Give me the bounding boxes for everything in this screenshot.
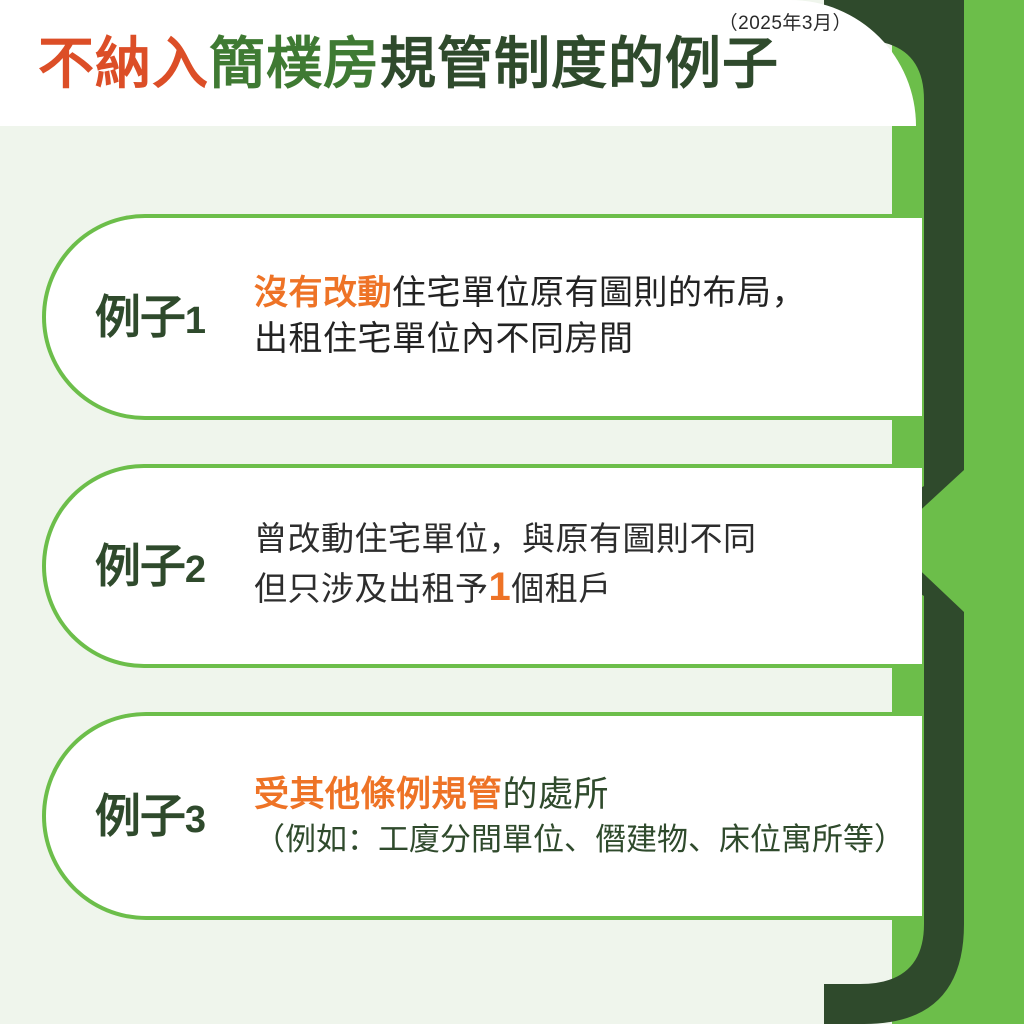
example-1-label: 例子1 <box>46 294 254 340</box>
example-2-label-text: 例子 <box>95 540 185 592</box>
date-label: （2025年3月） <box>719 8 852 35</box>
example-3-label: 例子3 <box>46 793 254 839</box>
example-3-line1-rest: 的處所 <box>503 775 610 814</box>
title-segment-green: 簡樸房 <box>209 32 380 95</box>
example-2-line-1: 曾改動住宅單位，與原有圖則不同 <box>254 517 886 561</box>
example-2-label-number: 2 <box>185 549 205 591</box>
example-1-body: 沒有改動住宅單位原有圖則的布局， 出租住宅單位內不同房間 <box>254 271 922 362</box>
example-3-label-number: 3 <box>185 799 205 841</box>
example-card-3: 例子3 受其他條例規管的處所 （例如：工廈分間單位、僭建物、床位寓所等） <box>42 712 922 920</box>
example-1-label-number: 1 <box>185 300 205 342</box>
example-1-line1-rest: 住宅單位原有圖則的布局， <box>392 274 806 312</box>
example-1-highlight: 沒有改動 <box>254 274 392 312</box>
example-3-line-1: 受其他條例規管的處所 <box>254 772 905 819</box>
example-1-label-text: 例子 <box>95 291 185 343</box>
header-banner: （2025年3月） 不納入簡樸房規管制度的例子 <box>0 0 916 126</box>
example-card-1: 例子1 沒有改動住宅單位原有圖則的布局， 出租住宅單位內不同房間 <box>42 214 922 420</box>
example-1-line-1: 沒有改動住宅單位原有圖則的布局， <box>254 271 886 317</box>
example-2-line-2: 但只涉及出租予1個租戶 <box>254 561 886 615</box>
title-segment-orange: 不納入 <box>38 32 209 95</box>
example-2-label: 例子2 <box>46 543 254 589</box>
example-3-highlight: 受其他條例規管 <box>254 775 503 814</box>
example-3-body: 受其他條例規管的處所 （例如：工廈分間單位、僭建物、床位寓所等） <box>254 772 941 860</box>
infographic-canvas: （2025年3月） 不納入簡樸房規管制度的例子 例子1 沒有改動住宅單位原有圖則… <box>0 0 1024 1024</box>
example-2-tenant-count: 1 <box>489 565 512 609</box>
example-2-body: 曾改動住宅單位，與原有圖則不同 但只涉及出租予1個租戶 <box>254 517 922 615</box>
example-1-line-2: 出租住宅單位內不同房間 <box>254 317 886 363</box>
example-card-2: 例子2 曾改動住宅單位，與原有圖則不同 但只涉及出租予1個租戶 <box>42 464 922 668</box>
page-title: 不納入簡樸房規管制度的例子 <box>38 36 779 92</box>
example-3-line-2: （例如：工廈分間單位、僭建物、床位寓所等） <box>254 819 905 861</box>
example-2-line2-post: 個租戶 <box>511 570 612 607</box>
example-2-line2-pre: 但只涉及出租予 <box>254 570 489 607</box>
example-3-label-text: 例子 <box>95 790 185 842</box>
title-segment-dark: 規管制度的例子 <box>380 32 779 95</box>
